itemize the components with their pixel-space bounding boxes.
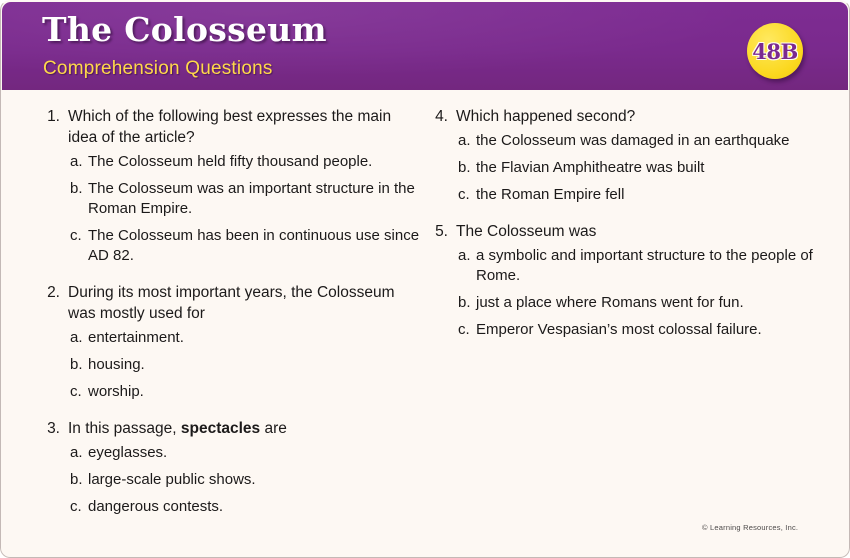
question-prompt: 4.Which happened second? <box>426 106 826 127</box>
question-text-pre: In this passage, <box>68 420 181 437</box>
answer-choice-text: eyeglasses. <box>88 443 420 463</box>
answer-choice[interactable]: c.worship. <box>38 382 420 402</box>
answer-choice[interactable]: c.The Colosseum has been in continuous u… <box>38 226 420 266</box>
question-text: In this passage, spectacles are <box>68 418 420 439</box>
answer-choice-letter: b. <box>458 293 476 313</box>
answer-choice-text: just a place where Romans went for fun. <box>476 293 826 313</box>
answer-choice[interactable]: a.the Colosseum was damaged in an earthq… <box>426 131 826 151</box>
question-text-pre: Which happened second? <box>456 108 635 125</box>
question-prompt: 5.The Colosseum was <box>426 221 826 242</box>
question-text-post: are <box>260 420 287 437</box>
question-block: 2.During its most important years, the C… <box>38 282 420 402</box>
answer-choice[interactable]: c.Emperor Vespasian’s most colossal fail… <box>426 320 826 340</box>
questions-column-right: 4.Which happened second?a.the Colosseum … <box>426 106 826 356</box>
question-text: Which of the following best expresses th… <box>68 106 420 148</box>
answer-choice-text: housing. <box>88 355 420 375</box>
answer-choice-list: a.entertainment.b.housing.c.worship. <box>38 328 420 402</box>
question-block: 3.In this passage, spectacles area.eyegl… <box>38 418 420 517</box>
answer-choice-letter: b. <box>70 470 88 490</box>
answer-choice[interactable]: a.entertainment. <box>38 328 420 348</box>
question-number: 3. <box>38 418 68 439</box>
answer-choice[interactable]: c.the Roman Empire fell <box>426 185 826 205</box>
answer-choice-text: a symbolic and important structure to th… <box>476 246 826 286</box>
answer-choice-letter: a. <box>458 131 476 151</box>
answer-choice-letter: a. <box>70 152 88 172</box>
answer-choice[interactable]: b.The Colosseum was an important structu… <box>38 179 420 219</box>
answer-choice[interactable]: b.just a place where Romans went for fun… <box>426 293 826 313</box>
question-text: During its most important years, the Col… <box>68 282 420 324</box>
answer-choice[interactable]: b.the Flavian Amphitheatre was built <box>426 158 826 178</box>
answer-choice-text: large-scale public shows. <box>88 470 420 490</box>
question-block: 4.Which happened second?a.the Colosseum … <box>426 106 826 205</box>
question-text: The Colosseum was <box>456 221 826 242</box>
question-block: 5.The Colosseum wasa.a symbolic and impo… <box>426 221 826 340</box>
answer-choice-letter: b. <box>70 355 88 375</box>
question-number: 2. <box>38 282 68 303</box>
answer-choice-text: dangerous contests. <box>88 497 420 517</box>
question-text-emphasis: spectacles <box>181 420 260 437</box>
answer-choice-letter: c. <box>70 382 88 402</box>
page-title: The Colosseum <box>42 10 327 49</box>
answer-choice-list: a.eyeglasses.b.large-scale public shows.… <box>38 443 420 517</box>
answer-choice-text: worship. <box>88 382 420 402</box>
answer-choice-text: the Roman Empire fell <box>476 185 826 205</box>
answer-choice-letter: a. <box>70 443 88 463</box>
question-prompt: 2.During its most important years, the C… <box>38 282 420 324</box>
answer-choice-letter: a. <box>458 246 476 266</box>
answer-choice-text: The Colosseum held fifty thousand people… <box>88 152 420 172</box>
answer-choice-letter: c. <box>458 185 476 205</box>
answer-choice[interactable]: a.a symbolic and important structure to … <box>426 246 826 286</box>
answer-choice[interactable]: b.housing. <box>38 355 420 375</box>
answer-choice-text: The Colosseum has been in continuous use… <box>88 226 420 266</box>
answer-choice[interactable]: a.The Colosseum held fifty thousand peop… <box>38 152 420 172</box>
answer-choice-text: the Colosseum was damaged in an earthqua… <box>476 131 826 151</box>
answer-choice-text: The Colosseum was an important structure… <box>88 179 420 219</box>
card-number-label: 48B <box>752 39 797 64</box>
questions-body: 1.Which of the following best expresses … <box>2 90 848 556</box>
answer-choice-list: a.the Colosseum was damaged in an earthq… <box>426 131 826 205</box>
question-text: Which happened second? <box>456 106 826 127</box>
question-prompt: 3.In this passage, spectacles are <box>38 418 420 439</box>
worksheet-card: The Colosseum Comprehension Questions 48… <box>0 0 850 558</box>
question-text-pre: Which of the following best expresses th… <box>68 108 391 146</box>
question-number: 5. <box>426 221 456 242</box>
card-number-badge: 48B <box>747 23 803 79</box>
questions-column-left: 1.Which of the following best expresses … <box>38 106 420 533</box>
answer-choice-text: entertainment. <box>88 328 420 348</box>
answer-choice-letter: c. <box>70 497 88 517</box>
answer-choice[interactable]: a.eyeglasses. <box>38 443 420 463</box>
answer-choice-letter: b. <box>458 158 476 178</box>
question-text-pre: The Colosseum was <box>456 223 596 240</box>
question-text-pre: During its most important years, the Col… <box>68 284 394 322</box>
answer-choice-text: the Flavian Amphitheatre was built <box>476 158 826 178</box>
answer-choice-letter: c. <box>458 320 476 340</box>
answer-choice-list: a.The Colosseum held fifty thousand peop… <box>38 152 420 266</box>
card-header: The Colosseum Comprehension Questions 48… <box>2 2 848 90</box>
page-subtitle: Comprehension Questions <box>43 58 273 80</box>
question-number: 1. <box>38 106 68 127</box>
answer-choice[interactable]: b.large-scale public shows. <box>38 470 420 490</box>
answer-choice-letter: c. <box>70 226 88 246</box>
answer-choice-text: Emperor Vespasian’s most colossal failur… <box>476 320 826 340</box>
answer-choice-list: a.a symbolic and important structure to … <box>426 246 826 340</box>
question-prompt: 1.Which of the following best expresses … <box>38 106 420 148</box>
copyright-notice: © Learning Resources, Inc. <box>702 523 798 532</box>
question-number: 4. <box>426 106 456 127</box>
question-block: 1.Which of the following best expresses … <box>38 106 420 266</box>
answer-choice-letter: b. <box>70 179 88 199</box>
answer-choice[interactable]: c.dangerous contests. <box>38 497 420 517</box>
answer-choice-letter: a. <box>70 328 88 348</box>
